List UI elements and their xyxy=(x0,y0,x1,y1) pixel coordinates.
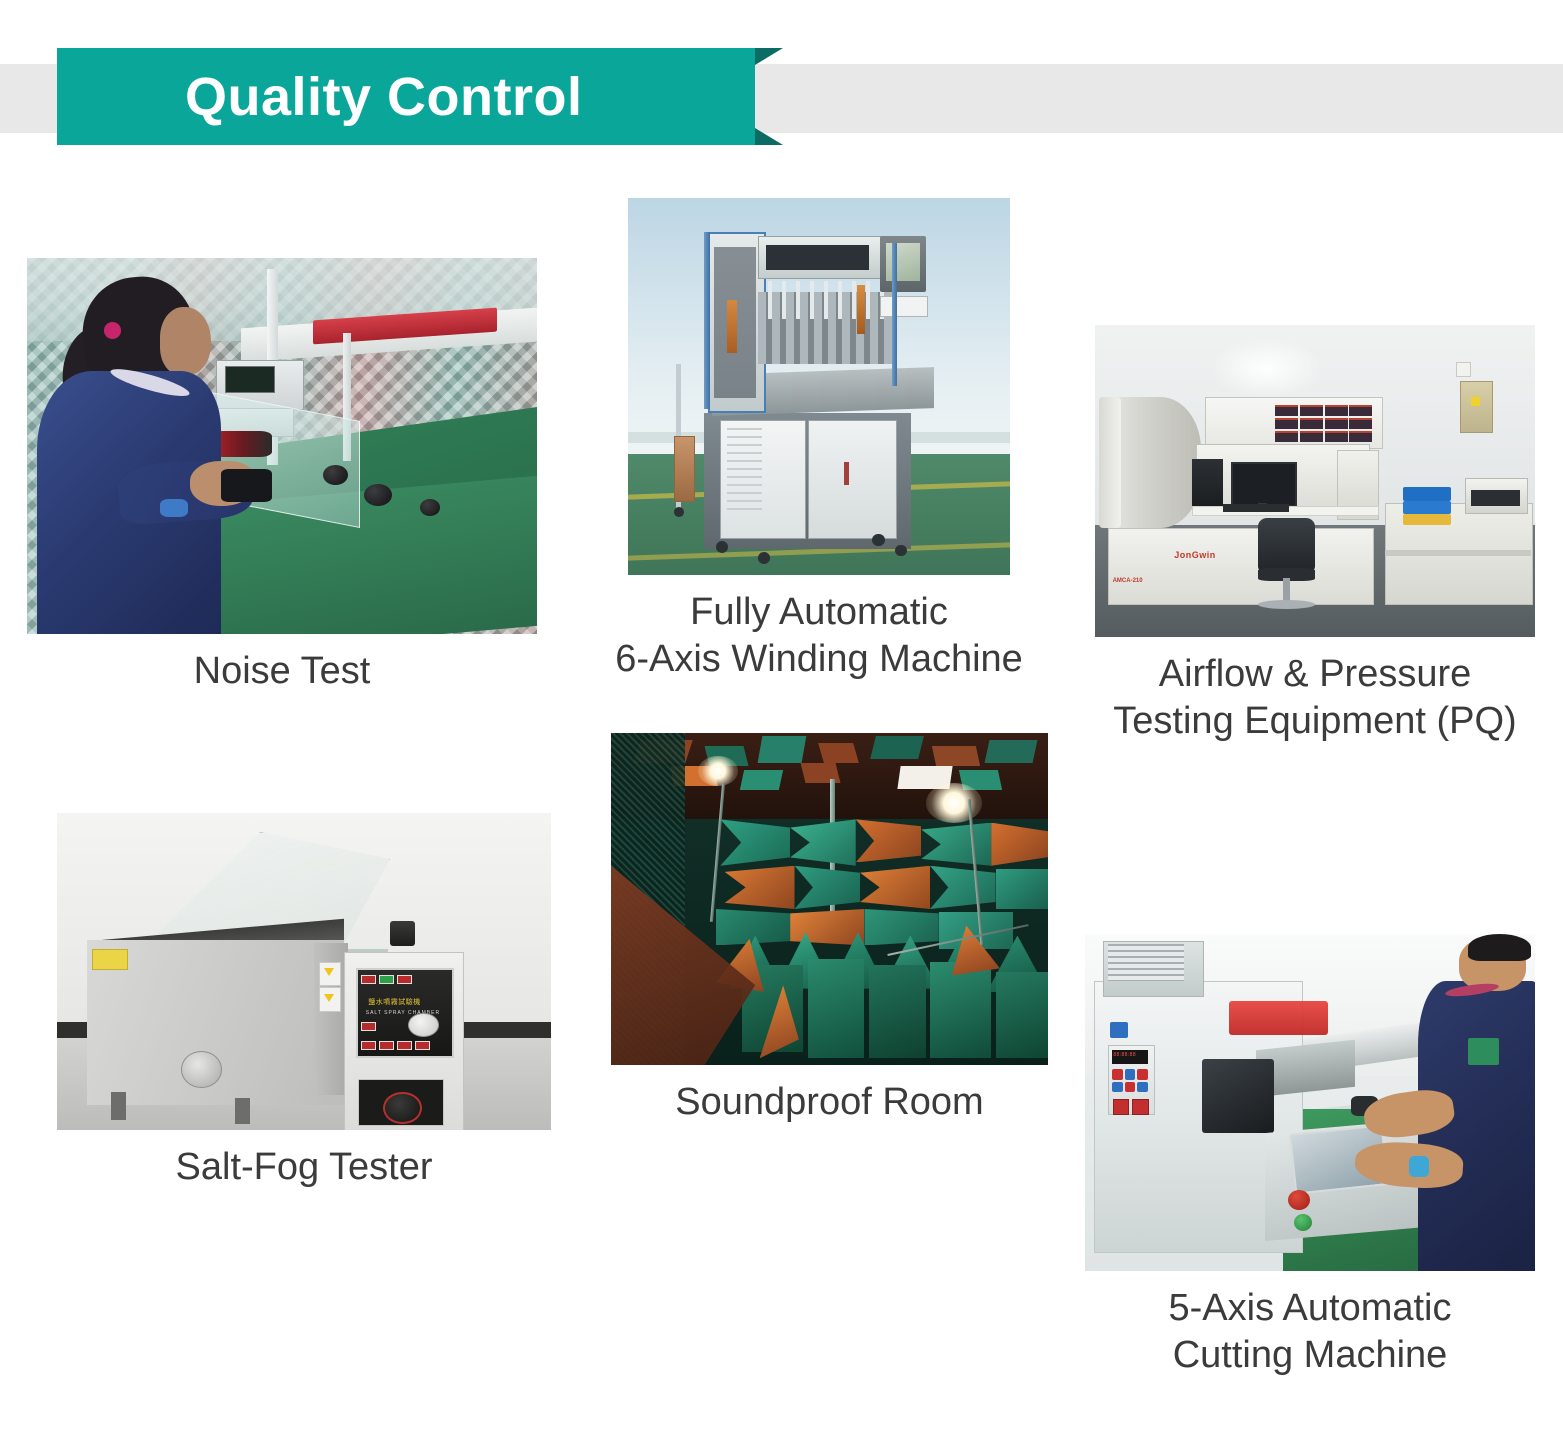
gallery-item-cutting-machine[interactable]: 88:88:88 xyxy=(1085,934,1535,1379)
ribbon-fold-top-icon xyxy=(755,48,783,65)
caption-cutting-machine: 5-Axis Automatic Cutting Machine xyxy=(1085,1285,1535,1379)
page-header: Quality Control xyxy=(0,0,1563,190)
photo-salt-fog-tester: 鹽水噴霧試驗機 SALT SPRAY CHAMBER xyxy=(57,813,551,1130)
page-title: Quality Control xyxy=(57,70,583,124)
caption-winding-machine: Fully Automatic 6-Axis Winding Machine xyxy=(604,589,1034,683)
gallery-item-airflow-pressure[interactable]: JonGwin AMCA-210 Airflow & Pressure Test… xyxy=(1095,325,1535,745)
gallery-item-winding-machine[interactable]: Fully Automatic 6-Axis Winding Machine xyxy=(628,198,1010,683)
ribbon-fold-bottom-icon xyxy=(755,128,783,145)
gallery-item-salt-fog-tester[interactable]: 鹽水噴霧試驗機 SALT SPRAY CHAMBER Salt-Fog Test… xyxy=(57,813,551,1191)
photo-noise-test xyxy=(27,258,537,634)
photo-winding-machine xyxy=(628,198,1010,575)
photo-soundproof-room xyxy=(611,733,1048,1065)
caption-noise-test: Noise Test xyxy=(27,648,537,695)
header-ribbon: Quality Control xyxy=(57,48,755,145)
gallery-item-soundproof-room[interactable]: Soundproof Room xyxy=(611,733,1048,1126)
caption-salt-fog-tester: Salt-Fog Tester xyxy=(57,1144,551,1191)
photo-airflow-pressure: JonGwin AMCA-210 xyxy=(1095,325,1535,637)
photo-cutting-machine: 88:88:88 xyxy=(1085,934,1535,1271)
gallery-item-noise-test[interactable]: Noise Test xyxy=(27,258,537,695)
caption-airflow-pressure: Airflow & Pressure Testing Equipment (PQ… xyxy=(1095,651,1535,745)
caption-soundproof-room: Soundproof Room xyxy=(611,1079,1048,1126)
